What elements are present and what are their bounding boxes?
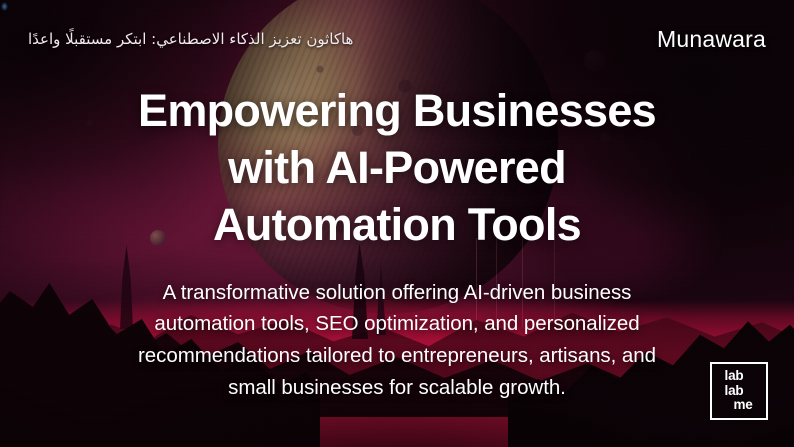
subtitle-line-2: automation tools, SEO optimization, and … (95, 308, 699, 340)
subtitle-line-4: small businesses for scalable growth. (95, 372, 699, 404)
logo-line-3: me (733, 398, 752, 413)
subtitle-line-3: recommendations tailored to entrepreneur… (95, 340, 699, 372)
logo-line-1: lab (725, 369, 744, 384)
headline-line-2: with AI-Powered (47, 139, 747, 196)
banner-content: هاكاثون تعزيز الذكاء الاصطناعي: ابتكر مس… (0, 0, 794, 447)
lablab-logo[interactable]: lab lab me (710, 362, 768, 420)
headline-line-1: Empowering Businesses (47, 82, 747, 139)
brand-name: Munawara (657, 26, 766, 53)
hackathon-banner: هاكاثون تعزيز الذكاء الاصطناعي: ابتكر مس… (0, 0, 794, 447)
page-title: Empowering Businesses with AI-Powered Au… (47, 82, 747, 253)
page-subtitle: A transformative solution offering AI-dr… (95, 277, 699, 404)
banner-topbar: هاكاثون تعزيز الذكاء الاصطناعي: ابتكر مس… (0, 22, 794, 56)
arabic-tagline: هاكاثون تعزيز الذكاء الاصطناعي: ابتكر مس… (28, 30, 353, 48)
headline-line-3: Automation Tools (47, 196, 747, 253)
logo-line-2: lab (725, 384, 744, 399)
subtitle-line-1: A transformative solution offering AI-dr… (95, 277, 699, 309)
